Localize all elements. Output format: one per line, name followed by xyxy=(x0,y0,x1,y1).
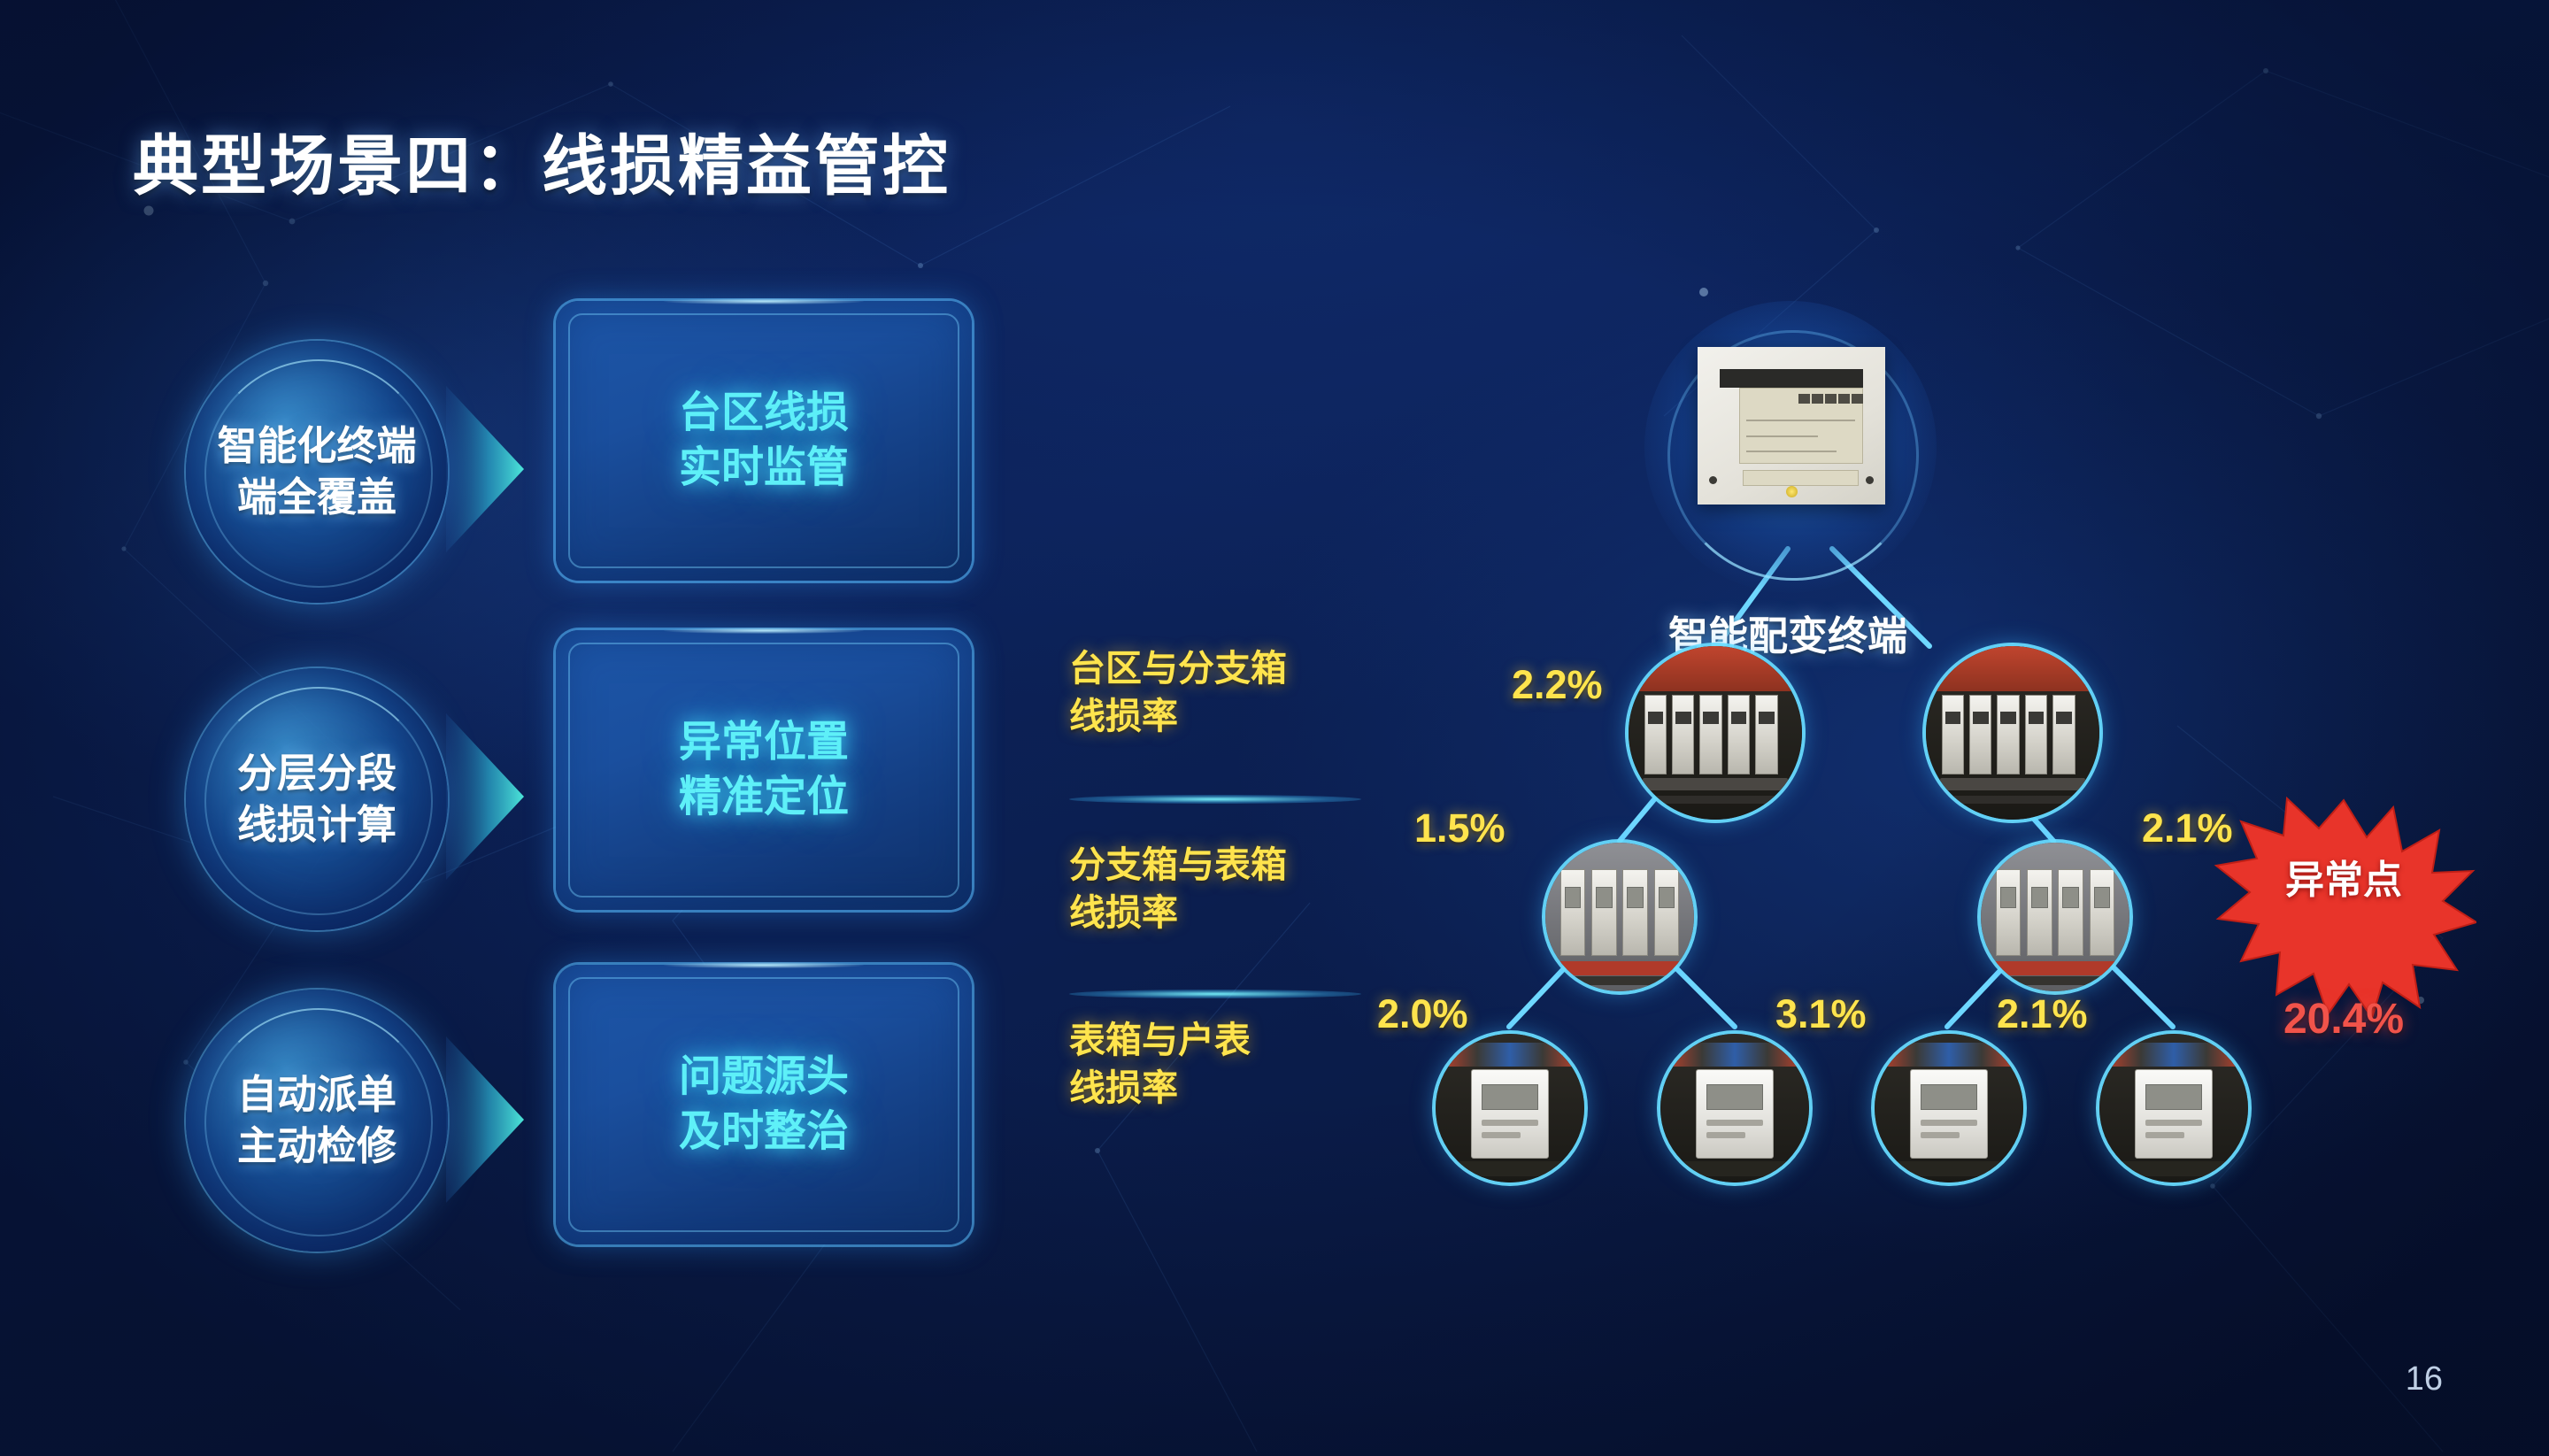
page-title: 典型场景四：线损精益管控 xyxy=(133,113,951,208)
loss-pct-meter-2: 3.1% xyxy=(1775,991,1867,1037)
loss-pct-tier1-left: 2.2% xyxy=(1512,662,1603,708)
loss-pct-meter-1: 2.0% xyxy=(1377,991,1468,1037)
line-loss-topology-diagram: 智能配变终端 2.2% 3.0% xyxy=(1363,292,2522,1275)
slide-canvas: 典型场景四：线损精益管控 智能化终端 端全覆盖 台区线损 实时监管 分层分段 线… xyxy=(0,0,2549,1456)
capability-circle-1-label: 智能化终端 端全覆盖 xyxy=(217,420,416,524)
outcome-box-3-label: 问题源头 及时整治 xyxy=(679,1050,849,1160)
topology-node-branch-right[interactable] xyxy=(1926,646,2099,820)
anomaly-badge-label: 异常点 xyxy=(2211,848,2476,905)
anomaly-badge[interactable]: 异常点 xyxy=(2211,797,2476,1018)
outcome-box-2[interactable]: 异常位置 精准定位 xyxy=(556,630,972,910)
topology-node-meterbox-right[interactable] xyxy=(1981,843,2129,991)
chevron-arrow-3-icon xyxy=(443,1031,528,1208)
chevron-arrow-2-icon xyxy=(443,708,528,885)
outcome-box-1[interactable]: 台区线损 实时监管 xyxy=(556,301,972,581)
meter-cabinet-artwork-right xyxy=(1981,843,2129,991)
meter-cabinet-artwork-left xyxy=(1545,843,1694,991)
rate-divider-2 xyxy=(1069,990,1361,998)
topology-node-meter-4-anomaly[interactable] xyxy=(2099,1034,2248,1183)
topology-node-meter-3[interactable] xyxy=(1875,1034,2023,1183)
household-meter-artwork-1 xyxy=(1436,1034,1584,1183)
capability-circle-1[interactable]: 智能化终端 端全覆盖 xyxy=(186,341,448,603)
chevron-arrow-1-icon xyxy=(443,381,528,558)
capability-circle-2[interactable]: 分层分段 线损计算 xyxy=(186,668,448,930)
page-number: 16 xyxy=(2406,1360,2443,1398)
topology-node-branch-left[interactable] xyxy=(1629,646,1802,820)
capability-circle-3-label: 自动派单 主动检修 xyxy=(237,1069,397,1173)
rate-label-2: 分支箱与表箱 线损率 xyxy=(1069,841,1405,936)
household-meter-artwork-4 xyxy=(2099,1034,2248,1183)
outcome-box-3[interactable]: 问题源头 及时整治 xyxy=(556,965,972,1244)
rate-divider-1 xyxy=(1069,795,1361,804)
starburst-icon xyxy=(2211,797,2476,1018)
household-meter-artwork-2 xyxy=(1660,1034,1809,1183)
capability-circle-2-label: 分层分段 线损计算 xyxy=(237,748,397,851)
topology-node-meter-1[interactable] xyxy=(1436,1034,1584,1183)
rate-label-1: 台区与分支箱 线损率 xyxy=(1069,644,1405,740)
smart-distribution-terminal-device xyxy=(1698,347,1885,505)
topology-node-meter-2[interactable] xyxy=(1660,1034,1809,1183)
loss-pct-meter-3: 2.1% xyxy=(1997,991,2088,1037)
rate-label-3: 表箱与户表 线损率 xyxy=(1069,1016,1405,1112)
branch-box-artwork-right xyxy=(1926,646,2099,820)
outcome-box-2-label: 异常位置 精准定位 xyxy=(679,715,849,826)
household-meter-artwork-3 xyxy=(1875,1034,2023,1183)
topology-node-meterbox-left[interactable] xyxy=(1545,843,1694,991)
outcome-box-1-label: 台区线损 实时监管 xyxy=(679,386,849,497)
anomaly-value: 20.4% xyxy=(2211,995,2476,1044)
loss-pct-tier2-left: 1.5% xyxy=(1414,805,1506,851)
capability-circle-3[interactable]: 自动派单 主动检修 xyxy=(186,990,448,1252)
branch-box-artwork-left xyxy=(1629,646,1802,820)
